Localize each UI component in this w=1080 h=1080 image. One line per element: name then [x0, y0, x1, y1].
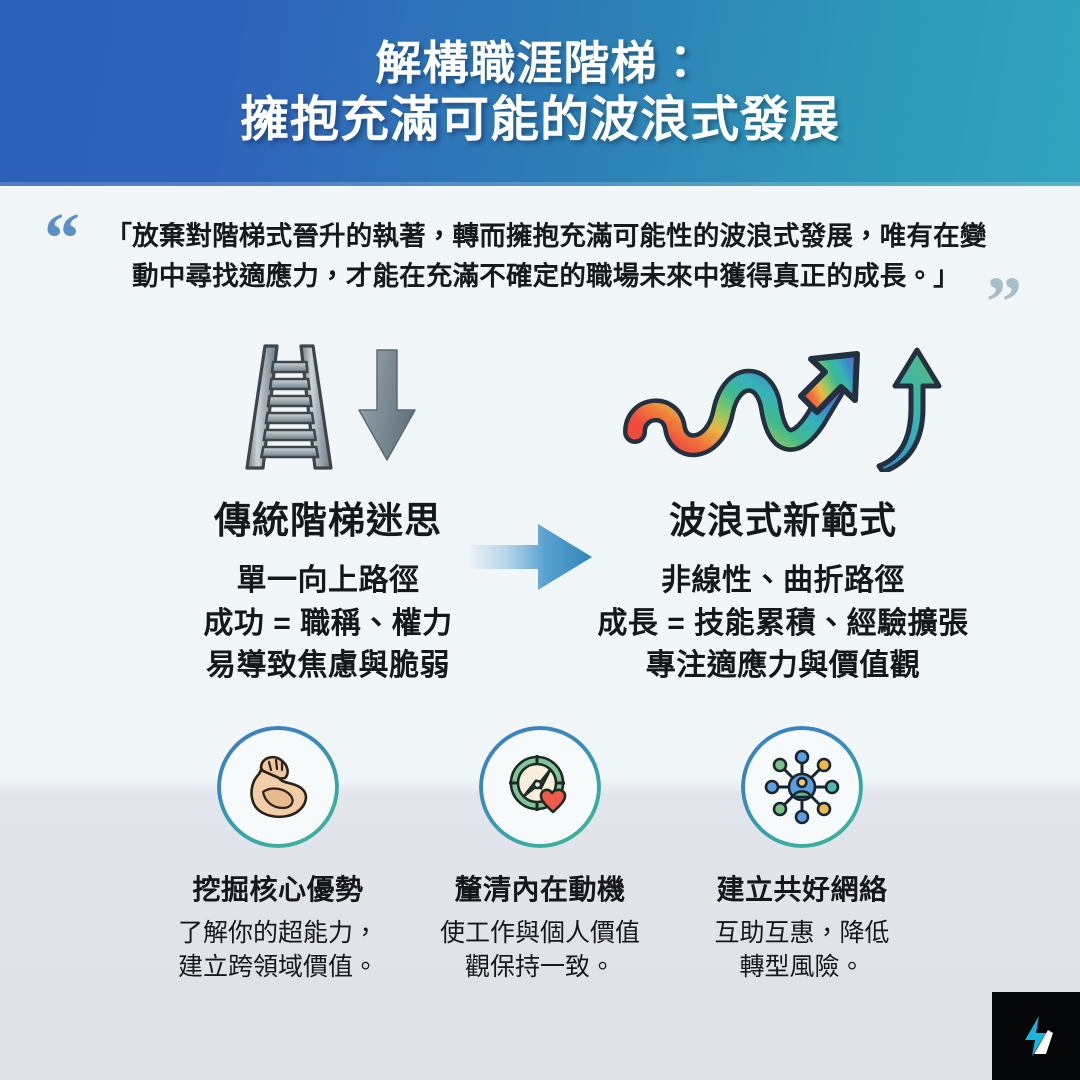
- arrow-down-icon: [351, 346, 423, 466]
- right-column-title: 波浪式新範式: [558, 490, 1008, 544]
- pillar-desc-line-1: 使工作與個人價值: [390, 916, 690, 950]
- brand-logo[interactable]: [992, 992, 1080, 1080]
- pillar-item: 建立共好網絡 互助互惠，降低 轉型風險。: [652, 726, 952, 984]
- quote-text: 「放棄對階梯式晉升的執著，轉而擁抱充滿可能性的波浪式發展，唯有在變動中尋找適應力…: [96, 216, 996, 297]
- pillar-title: 釐清內在動機: [390, 868, 690, 908]
- infographic-poster: 解構職涯階梯： 擁抱充滿可能的波浪式發展 “ 「放棄對階梯式晉升的執著，轉而擁抱…: [0, 0, 1080, 1080]
- quote-open-icon: “: [44, 202, 80, 274]
- pillar-item: 釐清內在動機 使工作與個人價值 觀保持一致。: [390, 726, 690, 984]
- right-line-2: 成長 = 技能累積、經驗擴張: [558, 603, 1008, 646]
- wave-arrow-icon: [619, 346, 869, 472]
- comparison-section: 傳統階梯迷思 單一向上路徑 成功 = 職稱、權力 易導致焦慮與脆弱: [0, 332, 1080, 722]
- pillar-icon-circle: [217, 726, 339, 848]
- arrow-up-curve-icon: [875, 346, 947, 472]
- pillar-title: 挖掘核心優勢: [128, 868, 428, 908]
- lightning-bolt-logo: [1015, 1012, 1057, 1060]
- right-line-3: 專注適應力與價值觀: [558, 645, 1008, 688]
- left-line-3: 易導致焦慮與脆弱: [118, 645, 538, 688]
- quote-close-icon: ”: [986, 266, 1022, 338]
- pillar-desc-line-1: 了解你的超能力，: [128, 916, 428, 950]
- pillar-icon-ring: [217, 726, 339, 848]
- right-column-lines: 非線性、曲折路徑 成長 = 技能累積、經驗擴張 專注適應力與價值觀: [558, 560, 1008, 688]
- pillar-icon-circle: [741, 726, 863, 848]
- left-line-2: 成功 = 職稱、權力: [118, 603, 538, 646]
- ladder-icon: [233, 340, 345, 472]
- pillar-desc-line-2: 轉型風險。: [652, 950, 952, 984]
- comparison-column-right: 波浪式新範式 非線性、曲折路徑 成長 = 技能累積、經驗擴張 專注適應力與價值觀: [558, 332, 1008, 688]
- pillar-icon-ring: [741, 726, 863, 848]
- quote-block: “ 「放棄對階梯式晉升的執著，轉而擁抱充滿可能性的波浪式發展，唯有在變動中尋找適…: [0, 196, 1080, 331]
- pillar-icon-ring: [479, 726, 601, 848]
- pillar-icon-circle: [479, 726, 601, 848]
- page-title-line-2: 擁抱充滿可能的波浪式發展: [240, 92, 840, 149]
- pillar-item: 挖掘核心優勢 了解你的超能力， 建立跨領域價值。: [128, 726, 428, 984]
- pillar-description: 互助互惠，降低 轉型風險。: [652, 916, 952, 984]
- comparison-column-left: 傳統階梯迷思 單一向上路徑 成功 = 職稱、權力 易導致焦慮與脆弱: [118, 332, 538, 688]
- pillar-desc-line-1: 互助互惠，降低: [652, 916, 952, 950]
- right-icon-row: [558, 332, 1008, 472]
- left-icon-row: [118, 332, 538, 472]
- pillar-title: 建立共好網絡: [652, 868, 952, 908]
- page-title-line-1: 解構職涯階梯：: [376, 37, 705, 90]
- pillars-section: 挖掘核心優勢 了解你的超能力， 建立跨領域價值。: [0, 726, 1080, 1026]
- pillar-description: 了解你的超能力， 建立跨領域價值。: [128, 916, 428, 984]
- pillar-description: 使工作與個人價值 觀保持一致。: [390, 916, 690, 984]
- header-banner: 解構職涯階梯： 擁抱充滿可能的波浪式發展: [0, 0, 1080, 186]
- right-line-1: 非線性、曲折路徑: [558, 560, 1008, 603]
- pillar-desc-line-2: 建立跨領域價值。: [128, 950, 428, 984]
- pillar-desc-line-2: 觀保持一致。: [390, 950, 690, 984]
